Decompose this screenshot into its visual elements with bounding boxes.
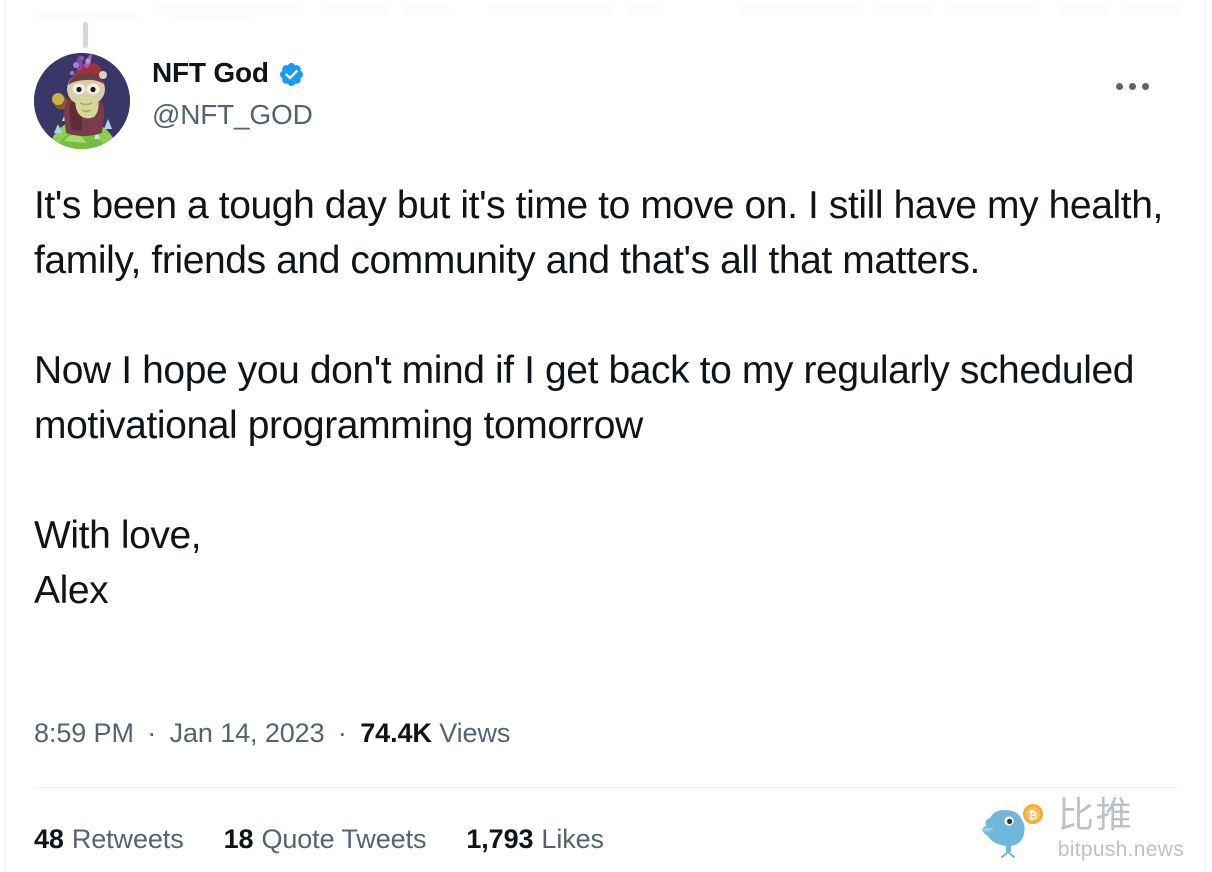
more-horizontal-icon	[1116, 83, 1123, 90]
avatar[interactable]	[34, 53, 130, 149]
thread-connector-line	[83, 22, 88, 48]
watermark-brand-url: bitpush.news	[1058, 839, 1184, 860]
display-name-row: NFT God	[152, 53, 952, 93]
views-count: 74.4K	[360, 718, 432, 748]
likes-count: 1,793	[466, 824, 533, 855]
previous-tweet-ghost	[0, 0, 1212, 26]
watermark-brand-cn: 比推	[1058, 798, 1184, 834]
meta-separator-1: ·	[147, 718, 156, 748]
more-horizontal-icon-dot-3	[1142, 83, 1149, 90]
stat-likes[interactable]: 1,793 Likes	[466, 824, 604, 855]
meta-separator-2: ·	[338, 718, 347, 748]
more-horizontal-icon-dot-2	[1129, 83, 1136, 90]
retweets-label: Retweets	[72, 824, 184, 855]
views-label: Views	[439, 718, 510, 748]
retweets-count: 48	[34, 824, 64, 855]
tweet-stats-row: 48 Retweets 18 Quote Tweets 1,793 Likes	[34, 824, 644, 855]
author-handle[interactable]: @NFT_GOD	[152, 98, 952, 132]
verified-badge-icon	[278, 61, 305, 88]
stats-divider	[34, 787, 1178, 788]
tweet-text: It's been a tough day but it's time to m…	[34, 178, 1184, 618]
tweet-date: Jan 14, 2023	[170, 718, 325, 748]
tweet-timestamp-row: 8:59 PM · Jan 14, 2023 · 74.4K Views	[34, 718, 510, 749]
tweet-time: 8:59 PM	[34, 718, 134, 748]
watermark-text: 比推 bitpush.news	[1058, 798, 1184, 860]
more-options-button[interactable]	[1106, 67, 1158, 105]
bitpush-watermark: ₿ 比推 bitpush.news	[978, 798, 1184, 860]
stat-quote-tweets[interactable]: 18 Quote Tweets	[224, 824, 427, 855]
svg-text:₿: ₿	[1028, 810, 1037, 822]
tweet-screenshot: NFT God @NFT_GOD It's been a tough day b…	[0, 0, 1212, 872]
column-border-right	[1205, 0, 1206, 872]
column-border-left	[5, 0, 6, 872]
quote-tweets-label: Quote Tweets	[261, 824, 426, 855]
quote-tweets-count: 18	[224, 824, 254, 855]
likes-label: Likes	[541, 824, 604, 855]
bitpush-bird-logo-icon: ₿	[978, 800, 1048, 858]
stat-retweets[interactable]: 48 Retweets	[34, 824, 184, 855]
author-identity: NFT God @NFT_GOD	[152, 53, 952, 132]
tweet-header: NFT God @NFT_GOD	[34, 53, 1178, 149]
display-name[interactable]: NFT God	[152, 56, 269, 90]
